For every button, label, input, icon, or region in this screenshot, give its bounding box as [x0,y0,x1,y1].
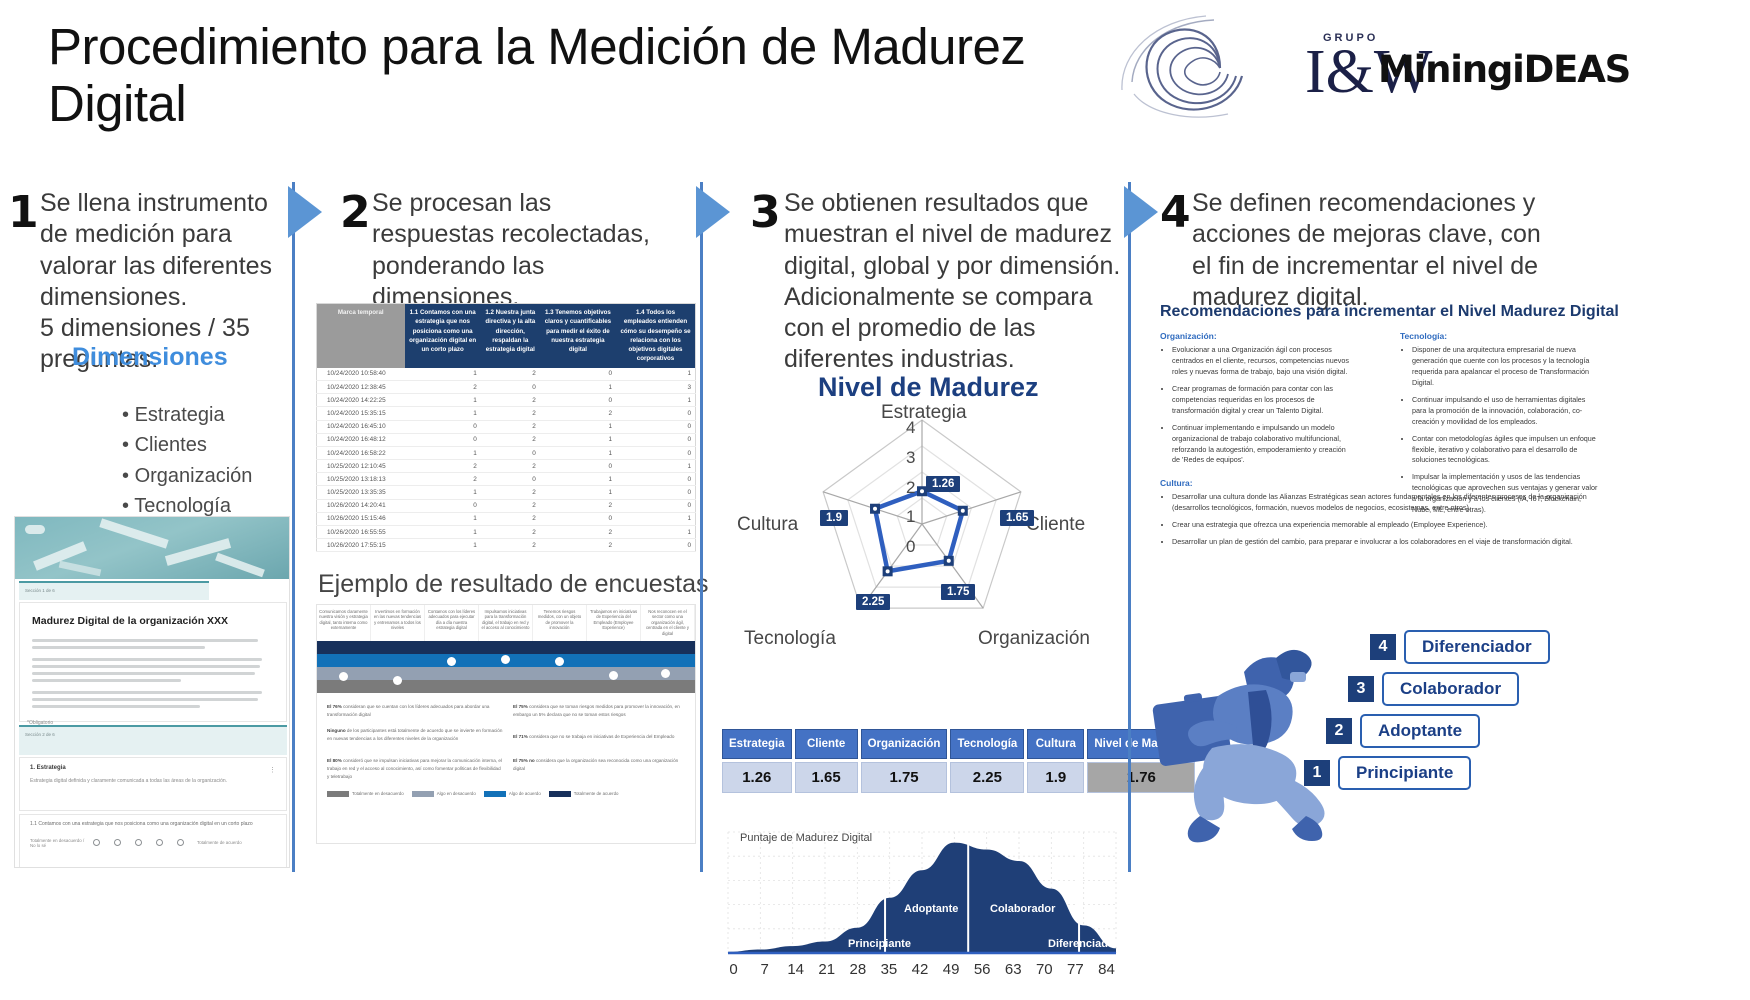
cell-score: 1 [616,512,695,525]
arrow-to-step-3 [696,186,730,238]
rec-heading-tecnologia: Tecnología: [1400,331,1447,341]
cell-score: 1 [405,446,481,459]
scale-radio-0[interactable] [93,839,100,846]
scale-right-label: Totalmente de acuerdo [197,840,242,845]
radar-label-cliente: Cliente [1026,514,1085,536]
rec-item: Desarrollar un plan de gestión del cambi… [1172,537,1590,548]
survey-section-tab: Sección 1 de 6 [19,581,209,600]
level-row-4: 4 Diferenciador [1370,630,1550,664]
rt-h-tecnologia: Tecnología [950,729,1024,759]
step-4-text: Se definen recomendaciones y acciones de… [1192,188,1562,313]
rt-v-estrategia: 1.26 [722,762,792,793]
level-number-4: 4 [1370,634,1396,660]
bell-tick: 56 [967,961,998,978]
rec-item: Continuar impulsando el uso de herramien… [1412,395,1600,428]
cell-score: 2 [481,433,540,446]
cell-timestamp: 10/25/2020 12:10:45 [317,460,405,473]
sr-stacked-bands [317,641,695,693]
sr-col: Contamos con los líderes adecuados para … [425,605,479,641]
cell-score: 1 [616,460,695,473]
level-number-2: 2 [1326,718,1352,744]
cell-score: 2 [405,380,481,393]
cell-score: 2 [481,407,540,420]
col-marca-temporal: Marca temporal [317,304,405,368]
step-1-number: 1 [8,191,39,235]
cell-score: 2 [481,368,540,381]
cell-score: 0 [540,368,616,381]
cell-score: 1 [616,526,695,539]
cell-score: 0 [540,394,616,407]
survey-card-title: Madurez Digital de la organización XXX [20,603,286,627]
sr-col: Comunicamos claramente nuestra visión y … [317,605,371,641]
cell-timestamp: 10/26/2020 15:15:46 [317,512,405,525]
survey-question-card: 1.1 Contamos con una estrategia que nos … [19,814,287,868]
cell-score: 3 [616,380,695,393]
scale-radio-3[interactable] [156,839,163,846]
radar-tick-2: 2 [906,478,915,498]
cell-score: 0 [616,420,695,433]
band-algo-en-desacuerdo [317,667,695,680]
table-row: 10/24/2020 16:58:221010 [317,446,696,459]
cell-timestamp: 10/25/2020 13:35:35 [317,486,405,499]
level-number-3: 3 [1348,676,1374,702]
table-header-row: Marca temporal 1.1 Contamos con una estr… [317,304,696,368]
cell-timestamp: 10/24/2020 15:35:15 [317,407,405,420]
cell-score: 2 [481,526,540,539]
table-row: 10/26/2020 15:15:461201 [317,512,696,525]
col-q14: 1.4 Todos los empleados entienden cómo s… [616,304,695,368]
level-row-2: 2 Adoptante [1326,714,1480,748]
table-row: 10/24/2020 12:38:452013 [317,380,696,393]
table-row: 10/26/2020 16:55:551221 [317,526,696,539]
radar-chart-title: Nivel de Madurez [818,372,1039,403]
table-row: 10/26/2020 17:55:151220 [317,539,696,552]
table-row: 10/25/2020 13:18:132010 [317,473,696,486]
cell-score: 1 [540,380,616,393]
cell-score: 2 [540,526,616,539]
sr-note-right-1: El 75% considera que se toman riesgos me… [513,703,689,719]
bell-tick: 14 [780,961,811,978]
responses-table: Marca temporal 1.1 Contamos con una estr… [316,303,696,552]
bell-tick: 42 [904,961,935,978]
bell-tick: 84 [1091,961,1122,978]
radar-tick-3: 3 [906,448,915,468]
divider-2 [700,182,703,872]
level-row-3: 3 Colaborador [1348,672,1519,706]
cell-score: 2 [481,486,540,499]
rec-item: Disponer de una arquitectura empresarial… [1412,345,1600,389]
bell-tick: 21 [811,961,842,978]
sr-point [555,657,564,666]
cell-timestamp: 10/24/2020 12:38:45 [317,380,405,393]
bell-tick: 28 [842,961,873,978]
sr-point [661,669,670,678]
bell-tick: 35 [873,961,904,978]
table-row: 10/25/2020 13:35:351210 [317,486,696,499]
level-label-diferenciador[interactable]: Diferenciador [1404,630,1550,664]
legend-item: Algo en desacuerdo [412,791,476,797]
radar-tick-4: 4 [906,418,915,438]
cell-score: 1 [540,420,616,433]
table-row: 10/24/2020 10:58:401201 [317,368,696,381]
radar-label-tecnologia: Tecnología [744,628,836,650]
survey-section-label: Sección 1 de 6 [19,583,209,593]
cell-score: 0 [616,446,695,459]
table-row: 10/24/2020 14:22:251201 [317,394,696,407]
rec-heading-cultura: Cultura: [1160,478,1193,488]
cell-score: 0 [405,420,481,433]
rt-v-tecnologia: 2.25 [950,762,1024,793]
sr-legend: Totalmente en desacuerdo Algo en desacue… [327,791,618,797]
cell-score: 1 [540,486,616,499]
cell-score: 0 [405,499,481,512]
rec-heading-organizacion: Organización: [1160,331,1217,341]
rec-list-organizacion: Evolucionar a una Organización ágil con … [1160,345,1355,472]
cell-score: 2 [481,460,540,473]
survey-section-2-label: Sección 2 de 6 [19,727,287,737]
sr-note-left-1: El 76% consideran que se cuentan con los… [327,703,503,719]
sr-point [609,671,618,680]
dimension-item: Clientes [122,430,252,460]
rt-h-organizacion: Organización [861,729,948,759]
cell-score: 2 [540,499,616,512]
survey-results-chart: Comunicamos claramente nuestra visión y … [316,604,696,844]
cell-score: 2 [481,420,540,433]
legend-item: Algo de acuerdo [484,791,541,797]
radar-value-cultura: 1.9 [820,510,848,526]
logo-area: GRUPO I&W MiningiDEAS [1110,8,1730,126]
results-header-row: Estrategia Cliente Organización Tecnolog… [722,729,1195,759]
step-3-text: Se obtienen resultados que muestran el n… [784,188,1134,376]
cell-score: 0 [481,446,540,459]
col-q12: 1.2 Nuestra junta directiva y la alta di… [481,304,540,368]
sr-col: Nos reconocen en el sector como una orga… [641,605,695,641]
bell-tick: 0 [718,961,749,978]
sr-col: Impulsamos iniciativas para la transform… [479,605,533,641]
level-label-adoptante[interactable]: Adoptante [1360,714,1480,748]
legend-item: Totalmente de acuerdo [549,791,619,797]
page-title: Procedimiento para la Medición de Madure… [48,18,1088,132]
cell-timestamp: 10/25/2020 13:18:13 [317,473,405,486]
cell-score: 0 [616,539,695,552]
radar-value-estrategia: 1.26 [926,476,960,492]
cell-score: 1 [405,512,481,525]
survey-intro-card: Madurez Digital de la organización XXX [19,602,287,722]
cell-timestamp: 10/24/2020 16:48:12 [317,433,405,446]
rt-v-cultura: 1.9 [1027,762,1084,793]
survey-question-label: 1. Estrategia [20,758,286,778]
level-number-1: 1 [1304,760,1330,786]
rt-v-cliente: 1.65 [795,762,858,793]
bell-tick: 49 [936,961,967,978]
arrow-to-step-4 [1124,186,1158,238]
radar-chart: Estrategia Cliente Organización Tecnolog… [738,406,1138,656]
cell-score: 1 [540,446,616,459]
cell-score: 2 [405,460,481,473]
cell-score: 2 [481,394,540,407]
sr-note-left-2: Ninguno de los participantes está totalm… [327,727,503,743]
survey-form-screenshot: Sección 1 de 6 Madurez Digital de la org… [14,516,290,868]
radar-tick-1: 1 [906,507,915,527]
cell-score: 2 [481,499,540,512]
bell-segment-adoptante: Adoptante [904,903,958,915]
step-2-text: Se procesan las respuestas recolectadas,… [372,188,672,313]
recommendations-title: Recomendaciones para incrementar el Nive… [1160,303,1619,321]
band-totalmente-de-acuerdo [317,641,695,654]
cell-score: 1 [405,526,481,539]
cell-score: 0 [616,407,695,420]
survey-q-prompt: 1.1 Contamos con una estrategia que nos … [20,815,286,829]
bell-chart-title: Puntaje de Madurez Digital [740,832,872,844]
rec-item: Continuar implementando e impulsando un … [1172,423,1355,467]
cell-score: 2 [481,539,540,552]
cell-score: 1 [405,407,481,420]
results-value-row: 1.26 1.65 1.75 2.25 1.9 1.76 [722,762,1195,793]
bell-tick: 63 [998,961,1029,978]
sr-col: Trabajamos en iniciativas de Experiencia… [587,605,641,641]
level-label-principiante[interactable]: Principiante [1338,756,1471,790]
rec-list-cultura: Desarrollar una cultura donde las Alianz… [1160,492,1590,554]
dimensions-heading: Dimensiones [72,343,228,372]
survey-results-subtitle: Ejemplo de resultado de encuestas [318,570,709,599]
col-q13: 1.3 Tenemos objetivos claros y cuantific… [540,304,616,368]
cell-score: 1 [540,473,616,486]
scale-radio-1[interactable] [114,839,121,846]
level-row-1: 1 Principiante [1304,756,1471,790]
rec-item: Evolucionar a una Organización ágil con … [1172,345,1355,378]
cell-timestamp: 10/26/2020 14:20:41 [317,499,405,512]
bell-tick: 70 [1029,961,1060,978]
bell-tick: 7 [749,961,780,978]
table-row: 10/26/2020 14:20:410220 [317,499,696,512]
cell-score: 1 [616,394,695,407]
rec-item: Crear programas de formación para contar… [1172,384,1355,417]
radar-label-cultura: Cultura [737,514,798,536]
miningideas-logo: MiningiDEAS [1378,48,1630,91]
radar-value-cliente: 1.65 [1000,510,1034,526]
dimension-item: Organización [122,461,252,491]
dimension-item: Estrategia [122,400,252,430]
table-row: 10/24/2020 16:45:100210 [317,420,696,433]
radar-value-tecnologia: 2.25 [856,594,890,610]
bell-x-axis: 071421283542495663707784 [718,961,1122,978]
table-row: 10/24/2020 15:35:151220 [317,407,696,420]
survey-question-sub: Estrategia digital definida y claramente… [20,778,286,786]
grupo-iw-swirl-icon [1110,10,1330,126]
sr-note-right-3: El 75% no considera que la organización … [513,757,689,773]
radar-tick-0: 0 [906,537,915,557]
cell-score: 0 [616,499,695,512]
cell-timestamp: 10/26/2020 16:55:55 [317,526,405,539]
cell-timestamp: 10/26/2020 17:55:15 [317,539,405,552]
cell-score: 0 [540,512,616,525]
level-label-colaborador[interactable]: Colaborador [1382,672,1519,706]
cell-score: 0 [540,460,616,473]
maturity-distribution-chart: Puntaje de Madurez Digital Principiante … [718,820,1122,995]
cell-score: 0 [481,473,540,486]
scale-left-label: Totalmente en desacuerdo / No lo sé [30,838,86,848]
cell-score: 1 [405,394,481,407]
rt-h-cultura: Cultura [1027,729,1084,759]
cell-score: 2 [540,407,616,420]
cell-score: 0 [616,473,695,486]
cell-timestamp: 10/24/2020 14:22:25 [317,394,405,407]
divider-1 [292,182,295,872]
rec-item: Contar con metodologías ágiles que impul… [1412,434,1600,467]
sr-note-left-3: El 80% consideró que se impulsan iniciat… [327,757,503,780]
maturity-results-table: Estrategia Cliente Organización Tecnolog… [719,726,1198,796]
table-row: 10/25/2020 12:10:452201 [317,460,696,473]
bell-tick: 77 [1060,961,1091,978]
cell-score: 0 [616,486,695,499]
band-totalmente-en-desacuerdo [317,680,695,693]
survey-section-2-tab: Sección 2 de 6 [19,725,287,755]
cell-score: 0 [616,433,695,446]
sr-col: Tenemos riesgos medidos, con un objeto d… [533,605,587,641]
table-row: 10/24/2020 16:48:120210 [317,433,696,446]
radar-label-organizacion: Organización [978,628,1090,650]
radar-value-organizacion: 1.75 [941,584,975,600]
cell-score: 2 [540,539,616,552]
cell-score: 1 [540,433,616,446]
sr-point [339,672,348,681]
arrow-to-step-2 [288,186,322,238]
survey-banner-image [15,517,290,579]
cell-score: 1 [405,539,481,552]
bell-segment-principiante: Principiante [848,938,911,950]
cell-timestamp: 10/24/2020 10:58:40 [317,368,405,381]
rec-item: Crear una estrategia que ofrezca una exp… [1172,520,1590,531]
scale-radio-2[interactable] [135,839,142,846]
cell-score: 2 [481,512,540,525]
survey-question-group-card: 1. Estrategia Estrategia digital definid… [19,757,287,811]
step-4-number: 4 [1160,191,1191,235]
cell-score: 1 [405,368,481,381]
step-2-number: 2 [340,191,371,235]
cell-score: 1 [405,486,481,499]
rt-v-organizacion: 1.75 [861,762,948,793]
legend-item: Totalmente en desacuerdo [327,791,404,797]
sr-note-right-2: El 71% considera que no se trabaja en in… [513,733,689,741]
sr-column-headers: Comunicamos claramente nuestra visión y … [317,605,695,641]
survey-menu-icon[interactable]: ⋮ [269,766,276,774]
sr-point [447,657,456,666]
radar-label-estrategia: Estrategia [881,402,967,424]
cell-timestamp: 10/24/2020 16:45:10 [317,420,405,433]
col-q11: 1.1 Contamos con una estrategia que nos … [405,304,481,368]
cell-score: 2 [405,473,481,486]
scale-radio-4[interactable] [177,839,184,846]
divider-3 [1128,182,1131,872]
cell-score: 0 [405,433,481,446]
rec-item: Desarrollar una cultura donde las Alianz… [1172,492,1590,514]
cell-timestamp: 10/24/2020 16:58:22 [317,446,405,459]
sr-point [501,655,510,664]
sr-col: Invertimos en formación en las nuevas te… [371,605,425,641]
bell-segment-colaborador: Colaborador [990,903,1055,915]
rt-h-estrategia: Estrategia [722,729,792,759]
page-header: Procedimiento para la Medición de Madure… [0,0,1750,160]
step-3-number: 3 [750,191,781,235]
rt-h-cliente: Cliente [795,729,858,759]
cell-score: 0 [481,380,540,393]
bell-segment-diferenciador: Diferenciador [1048,938,1119,950]
sr-point [393,676,402,685]
cell-score: 1 [616,368,695,381]
